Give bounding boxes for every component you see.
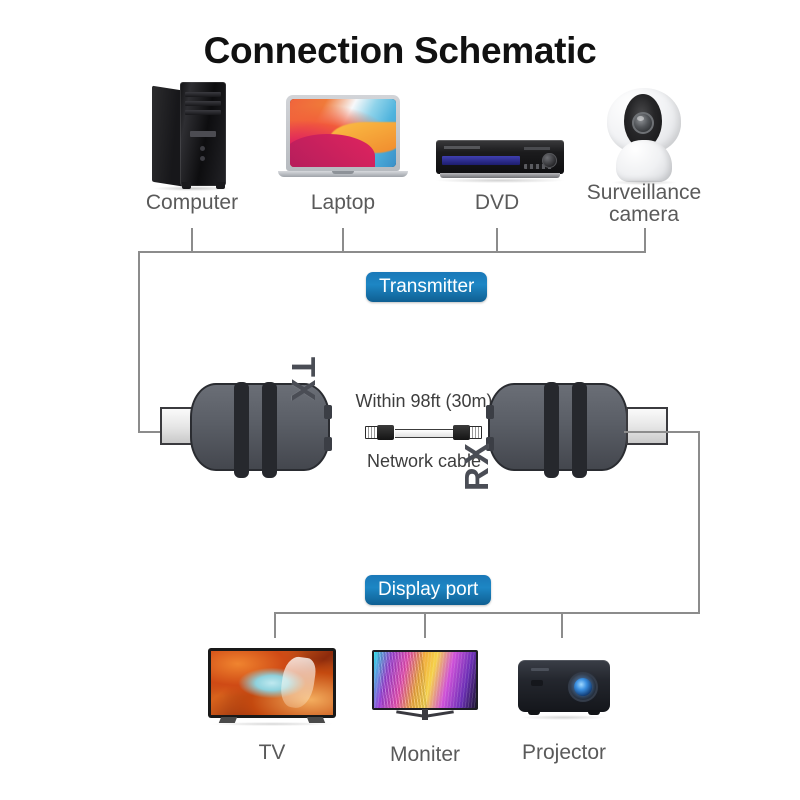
label-laptop: Laptop — [273, 192, 413, 214]
dvd-display-text — [524, 147, 550, 150]
transmitter-stripe — [262, 382, 277, 478]
transmitter-port-notch — [324, 405, 332, 419]
surveillance-camera-icon — [598, 88, 690, 186]
camera-lens — [632, 112, 654, 134]
computer-drive-bay — [185, 110, 221, 115]
wire-drop-dvd — [496, 228, 498, 252]
cable-connector-right — [453, 424, 483, 441]
computer-drive-bay — [185, 101, 221, 106]
monitor-stand-leg — [424, 710, 454, 718]
projector-shadow — [522, 715, 606, 720]
dvd-jog-dial — [542, 153, 557, 168]
label-tv: TV — [202, 742, 342, 764]
monitor-bezel — [372, 650, 478, 710]
rj45-clip — [469, 426, 482, 439]
desktop-computer-icon — [152, 82, 238, 190]
projector-lens — [574, 678, 592, 696]
computer-status-led — [200, 156, 205, 161]
rj45-boot — [377, 425, 394, 440]
page-title: Connection Schematic — [0, 30, 800, 72]
network-cable-icon — [365, 424, 483, 441]
label-projector: Projector — [494, 742, 634, 764]
receiver-label: RX — [458, 441, 496, 491]
dvd-shadow — [436, 178, 564, 183]
computer-power-led — [200, 146, 205, 151]
computer-drive-bay — [185, 92, 221, 97]
laptop-screen — [290, 99, 396, 167]
tv-screen — [211, 651, 333, 715]
monitor-icon — [372, 650, 478, 726]
cable-connector-left — [365, 424, 395, 441]
computer-side-panel — [152, 86, 182, 187]
label-surveillance-camera: Surveillance camera — [574, 182, 714, 226]
projector-icon — [518, 660, 610, 722]
receiver-body: RX — [488, 383, 628, 471]
cable-wire — [395, 429, 453, 438]
badge-display-port: Display port — [365, 575, 491, 605]
label-computer: Computer — [122, 192, 262, 214]
camera-base — [616, 140, 672, 182]
label-monitor: Moniter — [355, 744, 495, 766]
dvd-player-icon — [436, 140, 564, 184]
receiver-port-notch — [486, 405, 494, 419]
rj45-boot — [453, 425, 470, 440]
projector-vent — [531, 680, 543, 686]
wire-drop-camera — [644, 228, 646, 252]
label-dvd: DVD — [427, 192, 567, 214]
distance-label: Within 98ft (30m) — [348, 392, 500, 411]
wire-out-of-receiver — [624, 431, 700, 433]
wire-source-bus — [138, 251, 646, 253]
wire-drop-projector — [561, 612, 563, 638]
wire-output-bus — [274, 612, 700, 614]
receiver-stripe — [544, 382, 559, 478]
dvd-tray-strip — [442, 156, 520, 165]
tv-bezel — [208, 648, 336, 718]
transmitter-port-notch — [324, 437, 332, 451]
dvd-brand-text — [444, 146, 480, 149]
transmitter-label: TX — [284, 357, 322, 403]
camera-lens-glint — [637, 116, 644, 121]
wire-receiver-to-bus — [698, 431, 700, 613]
monitor-wallpaper-accent — [377, 652, 427, 708]
wire-drop-computer — [191, 228, 193, 252]
wire-drop-monitor — [424, 612, 426, 638]
wire-bus-to-transmitter — [138, 251, 140, 432]
schematic-canvas: Connection Schematic Computer Laptop — [0, 0, 800, 800]
tv-shadow — [212, 722, 332, 726]
projector-brand-text — [531, 668, 549, 671]
badge-transmitter: Transmitter — [366, 272, 487, 302]
monitor-screen — [374, 652, 476, 708]
tv-wallpaper — [211, 651, 333, 715]
receiver-stripe — [572, 382, 587, 478]
computer-brand-logo — [190, 131, 216, 137]
receiver-unit: RX — [488, 383, 678, 471]
laptop-icon — [278, 95, 408, 187]
receiver-hdmi-plug — [626, 407, 668, 445]
transmitter-unit: TX — [160, 383, 350, 471]
wire-drop-tv — [274, 612, 276, 638]
transmitter-stripe — [234, 382, 249, 478]
wire-drop-laptop — [342, 228, 344, 252]
laptop-notch — [332, 171, 354, 174]
transmitter-body: TX — [190, 383, 330, 471]
laptop-lid — [286, 95, 400, 171]
television-icon — [208, 648, 336, 724]
